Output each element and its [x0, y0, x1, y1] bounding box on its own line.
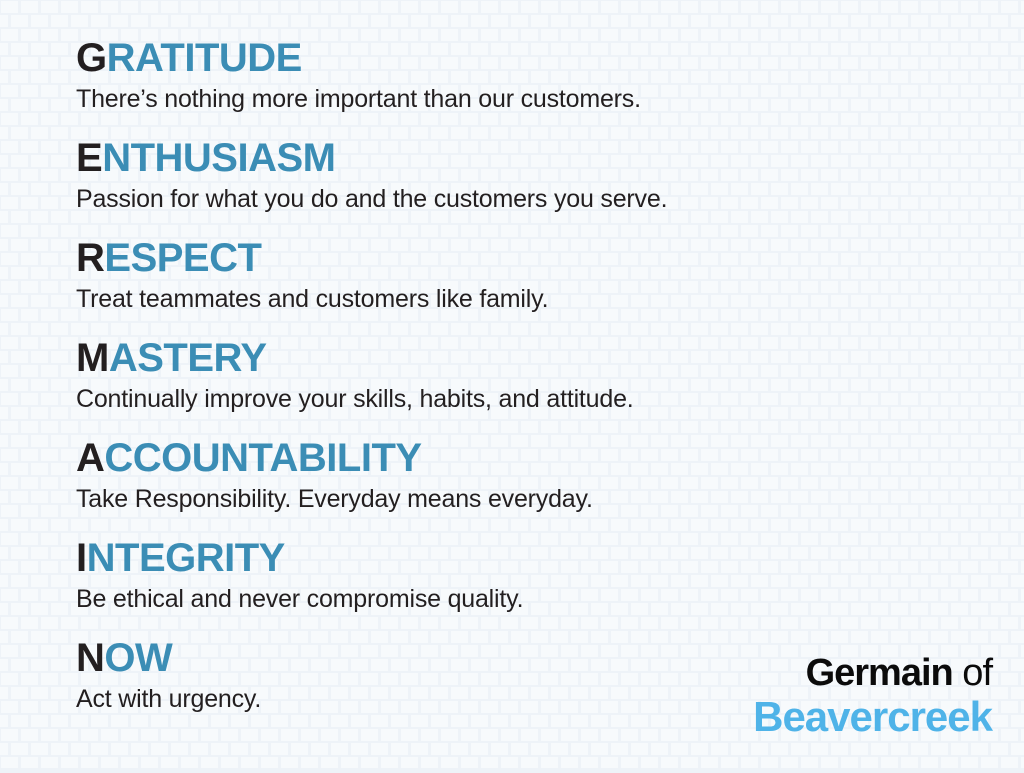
value-heading-remainder: RATITUDE	[107, 36, 302, 80]
slide-canvas: GRATITUDE There’s nothing more important…	[0, 0, 1024, 768]
value-block-accountability: ACCOUNTABILITY Take Responsibility. Ever…	[76, 436, 976, 536]
core-values-list: GRATITUDE There’s nothing more important…	[76, 36, 976, 736]
value-heading-integrity: INTEGRITY	[76, 536, 976, 580]
value-description-respect: Treat teammates and customers like famil…	[76, 280, 976, 314]
value-initial-letter: E	[76, 136, 102, 180]
value-block-integrity: INTEGRITY Be ethical and never compromis…	[76, 536, 976, 636]
value-heading-remainder: NTHUSIASM	[102, 136, 335, 180]
value-description-accountability: Take Responsibility. Everyday means ever…	[76, 480, 976, 514]
logo-location-name: Beavercreek	[753, 694, 992, 740]
dealership-logo: Germain of Beavercreek	[753, 652, 992, 740]
value-initial-letter: R	[76, 236, 104, 280]
value-initial-letter: A	[76, 436, 104, 480]
value-description-enthusiasm: Passion for what you do and the customer…	[76, 180, 976, 214]
logo-primary-line: Germain of	[753, 652, 992, 694]
value-heading-remainder: ASTERY	[109, 336, 267, 380]
value-block-respect: RESPECT Treat teammates and customers li…	[76, 236, 976, 336]
logo-brand-name: Germain	[806, 652, 953, 694]
value-heading-remainder: NTEGRITY	[87, 536, 285, 580]
value-heading-gratitude: GRATITUDE	[76, 36, 976, 80]
value-heading-enthusiasm: ENTHUSIASM	[76, 136, 976, 180]
value-block-mastery: MASTERY Continually improve your skills,…	[76, 336, 976, 436]
value-heading-accountability: ACCOUNTABILITY	[76, 436, 976, 480]
value-initial-letter: N	[76, 636, 104, 680]
value-heading-mastery: MASTERY	[76, 336, 976, 380]
value-initial-letter: I	[76, 536, 87, 580]
value-description-integrity: Be ethical and never compromise quality.	[76, 580, 976, 614]
value-heading-remainder: ESPECT	[104, 236, 261, 280]
value-initial-letter: M	[76, 336, 109, 380]
value-block-enthusiasm: ENTHUSIASM Passion for what you do and t…	[76, 136, 976, 236]
value-block-gratitude: GRATITUDE There’s nothing more important…	[76, 36, 976, 136]
slide-content: GRATITUDE There’s nothing more important…	[0, 0, 1024, 768]
value-heading-remainder: CCOUNTABILITY	[104, 436, 421, 480]
value-heading-respect: RESPECT	[76, 236, 976, 280]
logo-connector-word: of	[953, 652, 992, 694]
value-description-gratitude: There’s nothing more important than our …	[76, 80, 976, 114]
value-description-mastery: Continually improve your skills, habits,…	[76, 380, 976, 414]
value-initial-letter: G	[76, 36, 107, 80]
value-heading-remainder: OW	[104, 636, 172, 680]
